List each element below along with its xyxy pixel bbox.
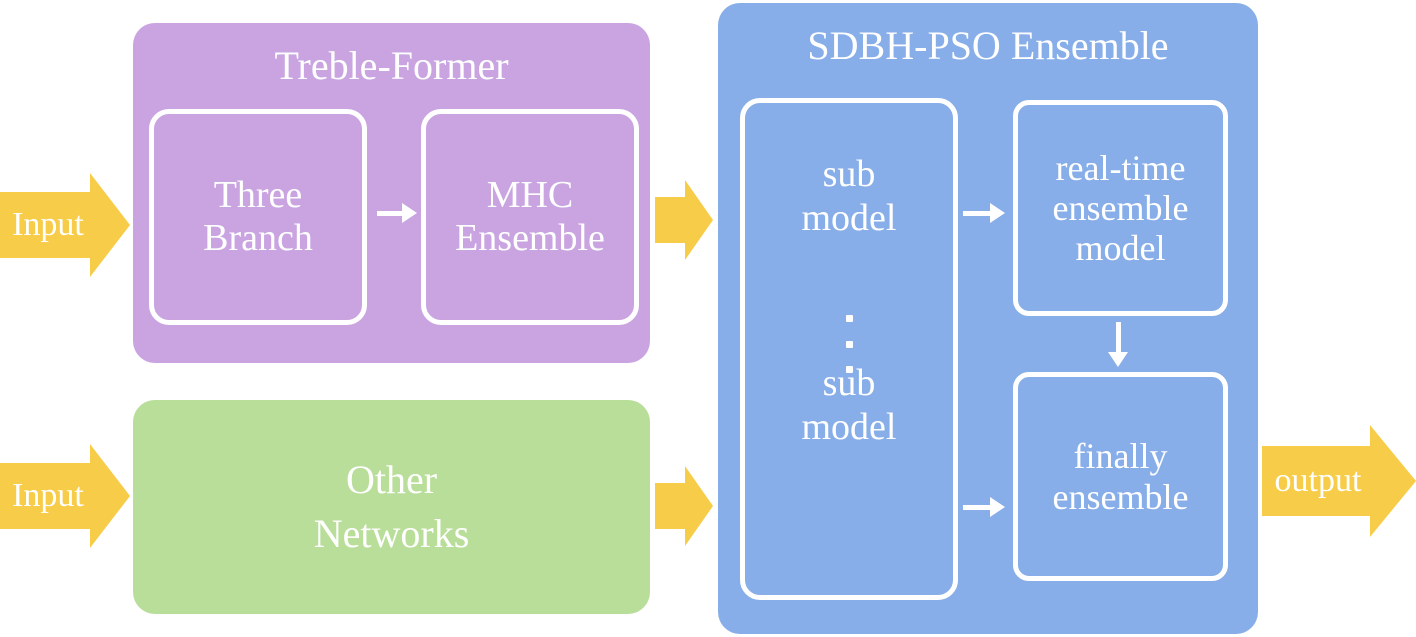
box-sub-model-first-line1: sub <box>745 153 953 197</box>
box-realtime-line2: ensemble <box>1053 188 1189 228</box>
arrow-sub-to-realtime <box>963 203 1005 223</box>
arrow-sub-to-realtime-head <box>990 203 1005 223</box>
sdbh-pso-title: SDBH-PSO Ensemble <box>718 25 1258 67</box>
input-arrow-top: Input <box>0 172 130 277</box>
arrow-treble-to-ensemble-body <box>655 197 685 243</box>
arrow-treble-to-ensemble-head <box>685 180 713 260</box>
arrow-three-branch-to-mhc-head <box>402 203 417 223</box>
box-three-branch-line1: Three <box>203 174 313 217</box>
box-sub-model-first: sub model <box>745 153 953 240</box>
box-realtime-ensemble-model[interactable]: real-time ensemble model <box>1013 100 1228 316</box>
box-mhc-ensemble[interactable]: MHC Ensemble <box>421 109 639 325</box>
input-arrow-bottom-head <box>90 444 130 548</box>
box-sub-model-column[interactable]: sub model sub model <box>740 98 958 600</box>
ellipsis-dot-1 <box>846 315 853 322</box>
arrow-other-to-ensemble-head <box>685 466 713 546</box>
group-treble-former[interactable]: Treble-Former Three Branch MHC Ensemble <box>133 23 650 363</box>
arrow-realtime-to-finally-head <box>1108 352 1128 367</box>
box-finally-ensemble-text: finally ensemble <box>1053 436 1189 517</box>
box-mhc-ensemble-line2: Ensemble <box>455 217 605 260</box>
input-arrow-top-label: Input <box>12 206 84 244</box>
output-arrow-label: output <box>1275 462 1362 500</box>
ellipsis-dot-2 <box>846 341 853 348</box>
arrow-realtime-to-finally-shaft <box>1116 322 1121 352</box>
input-arrow-top-head <box>90 173 130 277</box>
arrow-three-branch-to-mhc-shaft <box>377 211 402 216</box>
arrow-treble-to-ensemble <box>655 180 713 260</box>
box-mhc-ensemble-text: MHC Ensemble <box>455 174 605 259</box>
arrow-three-branch-to-mhc <box>377 203 417 223</box>
arrow-other-to-ensemble <box>655 466 713 546</box>
output-arrow-head <box>1370 425 1416 537</box>
output-arrow: output <box>1262 425 1416 537</box>
other-networks-line2: Networks <box>314 507 470 561</box>
other-networks-line1: Other <box>314 453 470 507</box>
box-realtime-ensemble-model-text: real-time ensemble model <box>1053 148 1189 269</box>
box-finally-ensemble[interactable]: finally ensemble <box>1013 372 1228 581</box>
ellipsis-dot-3 <box>846 366 853 373</box>
box-finally-line1: finally <box>1053 436 1189 476</box>
other-networks-text: Other Networks <box>314 453 470 561</box>
input-arrow-top-body: Input <box>0 192 90 258</box>
box-realtime-line1: real-time <box>1053 148 1189 188</box>
input-arrow-bottom-label: Input <box>12 477 84 515</box>
box-three-branch-line2: Branch <box>203 217 313 260</box>
arrow-realtime-to-finally <box>1108 322 1128 367</box>
arrow-sub-to-finally <box>963 497 1005 517</box>
output-arrow-body: output <box>1262 446 1370 516</box>
sub-model-ellipsis-icon <box>745 315 953 373</box>
box-mhc-ensemble-line1: MHC <box>455 174 605 217</box>
input-arrow-bottom-body: Input <box>0 463 90 529</box>
box-sub-model-first-line2: model <box>745 197 953 241</box>
arrow-sub-to-realtime-shaft <box>963 211 990 216</box>
treble-former-title: Treble-Former <box>133 45 650 87</box>
box-three-branch[interactable]: Three Branch <box>149 109 367 325</box>
diagram-canvas: Input Treble-Former Three Branch MHC Ens… <box>0 0 1416 637</box>
box-sub-model-last-line2: model <box>745 406 953 450</box>
group-other-networks[interactable]: Other Networks <box>133 400 650 614</box>
group-sdbh-pso-ensemble[interactable]: SDBH-PSO Ensemble sub model sub model <box>718 3 1258 634</box>
box-finally-line2: ensemble <box>1053 477 1189 517</box>
arrow-other-to-ensemble-body <box>655 483 685 529</box>
input-arrow-bottom: Input <box>0 443 130 548</box>
arrow-sub-to-finally-shaft <box>963 505 990 510</box>
box-three-branch-text: Three Branch <box>203 174 313 259</box>
arrow-sub-to-finally-head <box>990 497 1005 517</box>
box-realtime-line3: model <box>1053 228 1189 268</box>
box-sub-model-last: sub model <box>745 362 953 449</box>
